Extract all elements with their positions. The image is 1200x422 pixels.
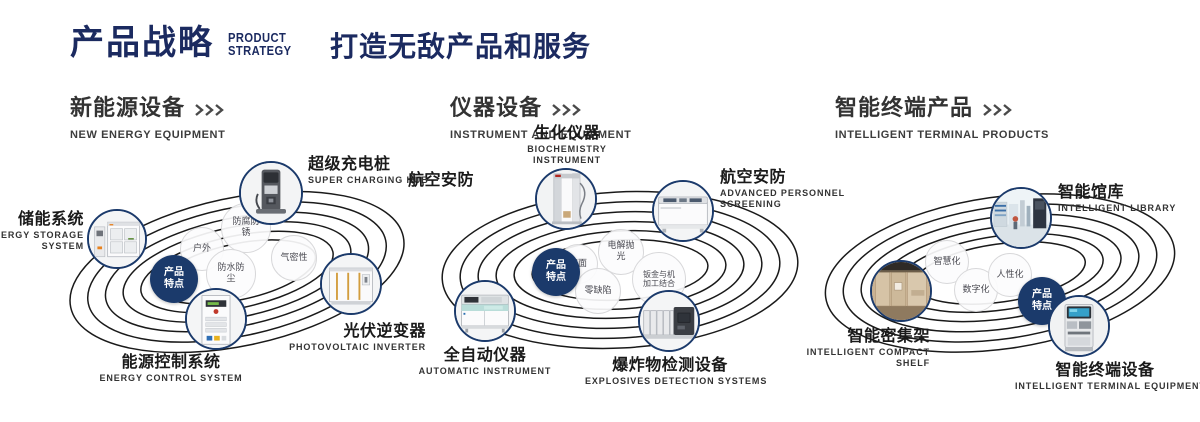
core-bubble-line2: 特点 bbox=[1032, 301, 1052, 312]
self-service-kiosk-photo bbox=[1050, 297, 1108, 355]
pv-inverter-photo bbox=[322, 255, 380, 313]
feature-bubble-label: 数字化 bbox=[962, 285, 989, 296]
feature-bubble-label: 钣金与机加工结合 bbox=[641, 270, 677, 289]
explosives-detector-photo bbox=[640, 292, 698, 350]
core-bubble-label: 产品 特点 bbox=[161, 267, 187, 291]
caption-aviation-security-left: 航空安防 bbox=[408, 171, 474, 189]
chevron-right-icon bbox=[552, 104, 582, 116]
node-charging-hub[interactable] bbox=[239, 161, 303, 225]
caption-terminal-equipment: 智能终端设备 INTELLIGENT TERMINAL EQUIPMENT bbox=[1015, 361, 1195, 392]
core-bubble-product-features: 产品 特点 bbox=[150, 255, 198, 303]
caption-en-line2: SCREENING bbox=[720, 199, 782, 209]
section-title-cn-text: 智能终端产品 bbox=[835, 98, 973, 120]
caption-cn: 航空安防 bbox=[408, 171, 474, 189]
caption-automatic-instrument: 全自动仪器 AUTOMATIC INSTRUMENT bbox=[405, 346, 565, 377]
caption-explosives-detection: 爆炸物检测设备 EXPLOSIVES DETECTION SYSTEMS bbox=[585, 356, 755, 387]
section-title-cn: 智能终端产品 bbox=[835, 98, 1049, 120]
page-headline: 打造无敌产品和服务 bbox=[330, 32, 591, 63]
caption-energy-storage: 储能系统 ENERGY STORAGE SYSTEM bbox=[0, 210, 84, 252]
caption-en: INTELLIGENT TERMINAL EQUIPMENT bbox=[1015, 381, 1195, 392]
brand-lockup: 产品战略 PRODUCT STRATEGY bbox=[70, 26, 302, 60]
node-biochemistry-instrument[interactable] bbox=[535, 168, 597, 230]
caption-cn: 智能密集架 bbox=[770, 327, 930, 345]
caption-en-line1: BIOCHEMISTRY bbox=[527, 144, 606, 154]
brand-title-cn: 产品战略 bbox=[70, 26, 214, 60]
node-automatic-instrument[interactable] bbox=[454, 280, 516, 342]
section-title-new-energy: 新能源设备 NEW ENERGY EQUIPMENT bbox=[70, 98, 225, 141]
cluster-new-energy: 户外 防腐防锈 防水防尘 气密性 产品 特点 bbox=[40, 150, 440, 390]
control-cabinet-photo bbox=[187, 290, 245, 348]
node-energy-control[interactable] bbox=[185, 288, 247, 350]
core-bubble-label: 产品 特点 bbox=[543, 260, 569, 284]
compact-shelf-photo bbox=[872, 262, 930, 320]
node-terminal-equipment[interactable] bbox=[1048, 295, 1110, 357]
caption-en-line2: SHELF bbox=[896, 358, 930, 368]
caption-en: EXPLOSIVES DETECTION SYSTEMS bbox=[585, 376, 755, 387]
feature-bubble-zero-defect: 零缺陷 bbox=[575, 268, 621, 314]
node-pv-inverter[interactable] bbox=[320, 253, 382, 315]
chevron-right-icon-svg bbox=[983, 104, 1013, 116]
section-title-intelligent: 智能终端产品 INTELLIGENT TERMINAL PRODUCTS bbox=[835, 98, 1049, 141]
feature-bubble-label: 户外 bbox=[193, 244, 211, 255]
feature-bubble-label: 电解抛光 bbox=[607, 241, 635, 262]
section-title-cn-text: 新能源设备 bbox=[70, 98, 185, 120]
caption-cn: 爆炸物检测设备 bbox=[585, 356, 755, 374]
caption-cn: 储能系统 bbox=[0, 210, 84, 228]
caption-cn: 生化仪器 bbox=[517, 124, 617, 142]
chevron-right-icon-svg bbox=[552, 104, 582, 116]
core-bubble-line2: 特点 bbox=[546, 272, 566, 283]
core-bubble-line1: 产品 bbox=[164, 267, 184, 278]
core-bubble-label: 产品 特点 bbox=[1029, 289, 1055, 313]
feature-bubble-label: 气密性 bbox=[280, 253, 307, 264]
feature-bubble-airtight: 气密性 bbox=[271, 235, 317, 281]
caption-en-line1: INTELLIGENT COMPACT bbox=[807, 347, 930, 357]
caption-cn: 智能馆库 bbox=[1058, 183, 1176, 201]
caption-intelligent-library: 智能馆库 INTELLIGENT LIBRARY bbox=[1058, 183, 1176, 214]
core-bubble-product-features: 产品 特点 bbox=[532, 248, 580, 296]
automatic-analyzer-photo bbox=[456, 282, 514, 340]
caption-pv-inverter: 光伏逆变器 PHOTOVOLTAIC INVERTER bbox=[266, 322, 426, 353]
library-interior-photo bbox=[992, 189, 1050, 247]
caption-en: INTELLIGENT COMPACT SHELF bbox=[770, 347, 930, 370]
caption-en: ENERGY STORAGE SYSTEM bbox=[0, 230, 84, 253]
brand-title-en-line2: STRATEGY bbox=[228, 44, 291, 57]
feature-bubble-label: 智慧化 bbox=[933, 257, 960, 268]
core-bubble-line1: 产品 bbox=[1032, 289, 1052, 300]
section-title-cn: 新能源设备 bbox=[70, 98, 225, 120]
node-intelligent-library[interactable] bbox=[990, 187, 1052, 249]
core-bubble-line2: 特点 bbox=[164, 279, 184, 290]
section-title-en: NEW ENERGY EQUIPMENT bbox=[70, 129, 225, 141]
caption-en: INTELLIGENT LIBRARY bbox=[1058, 203, 1176, 214]
core-bubble-line1: 产品 bbox=[546, 260, 566, 271]
section-title-en: INTELLIGENT TERMINAL PRODUCTS bbox=[835, 129, 1049, 141]
node-advanced-screening[interactable] bbox=[652, 180, 714, 242]
caption-en-line1: ENERGY STORAGE bbox=[0, 230, 84, 240]
security-gate-photo bbox=[537, 170, 595, 228]
caption-en: AUTOMATIC INSTRUMENT bbox=[405, 366, 565, 377]
screening-machine-photo bbox=[654, 182, 712, 240]
feature-bubble-label: 零缺陷 bbox=[584, 286, 611, 297]
caption-cn: 能源控制系统 bbox=[86, 353, 256, 371]
section-title-cn-text: 仪器设备 bbox=[450, 98, 542, 120]
caption-en: BIOCHEMISTRY INSTRUMENT bbox=[517, 144, 617, 167]
caption-en: PHOTOVOLTAIC INVERTER bbox=[266, 342, 426, 353]
node-compact-shelf[interactable] bbox=[870, 260, 932, 322]
caption-biochemistry-instrument: 生化仪器 BIOCHEMISTRY INSTRUMENT bbox=[517, 124, 617, 166]
cluster-instrument: 镜面 电解抛光 钣金与机加工结合 零缺陷 产品 特点 航空安防 bbox=[420, 150, 820, 390]
caption-en-line2: SYSTEM bbox=[42, 241, 84, 251]
cluster-intelligent-terminal: 智慧化 数字化 人性化 产品 特点 bbox=[810, 155, 1200, 395]
section-title-cn: 仪器设备 bbox=[450, 98, 631, 120]
brand-title-en: PRODUCT STRATEGY bbox=[228, 31, 291, 60]
caption-cn: 智能终端设备 bbox=[1015, 361, 1195, 379]
charging-pile-photo bbox=[241, 163, 301, 223]
caption-cn: 全自动仪器 bbox=[405, 346, 565, 364]
product-strategy-infographic: 产品战略 PRODUCT STRATEGY 打造无敌产品和服务 新能源设备 NE… bbox=[0, 0, 1200, 422]
page-header: 产品战略 PRODUCT STRATEGY 打造无敌产品和服务 bbox=[0, 0, 1200, 90]
node-explosives-detection[interactable] bbox=[638, 290, 700, 352]
caption-en: ENERGY CONTROL SYSTEM bbox=[86, 373, 256, 384]
chevron-right-icon-svg bbox=[195, 104, 225, 116]
node-energy-storage[interactable] bbox=[87, 209, 147, 269]
feature-bubble-label: 防水防尘 bbox=[216, 263, 246, 284]
caption-energy-control: 能源控制系统 ENERGY CONTROL SYSTEM bbox=[86, 353, 256, 384]
caption-en-line2: INSTRUMENT bbox=[533, 155, 601, 165]
energy-storage-cabinet-photo bbox=[89, 211, 145, 267]
feature-bubble-label: 人性化 bbox=[996, 270, 1023, 281]
chevron-right-icon bbox=[983, 104, 1013, 116]
caption-compact-shelf: 智能密集架 INTELLIGENT COMPACT SHELF bbox=[770, 327, 930, 369]
caption-cn: 光伏逆变器 bbox=[266, 322, 426, 340]
chevron-right-icon bbox=[195, 104, 225, 116]
